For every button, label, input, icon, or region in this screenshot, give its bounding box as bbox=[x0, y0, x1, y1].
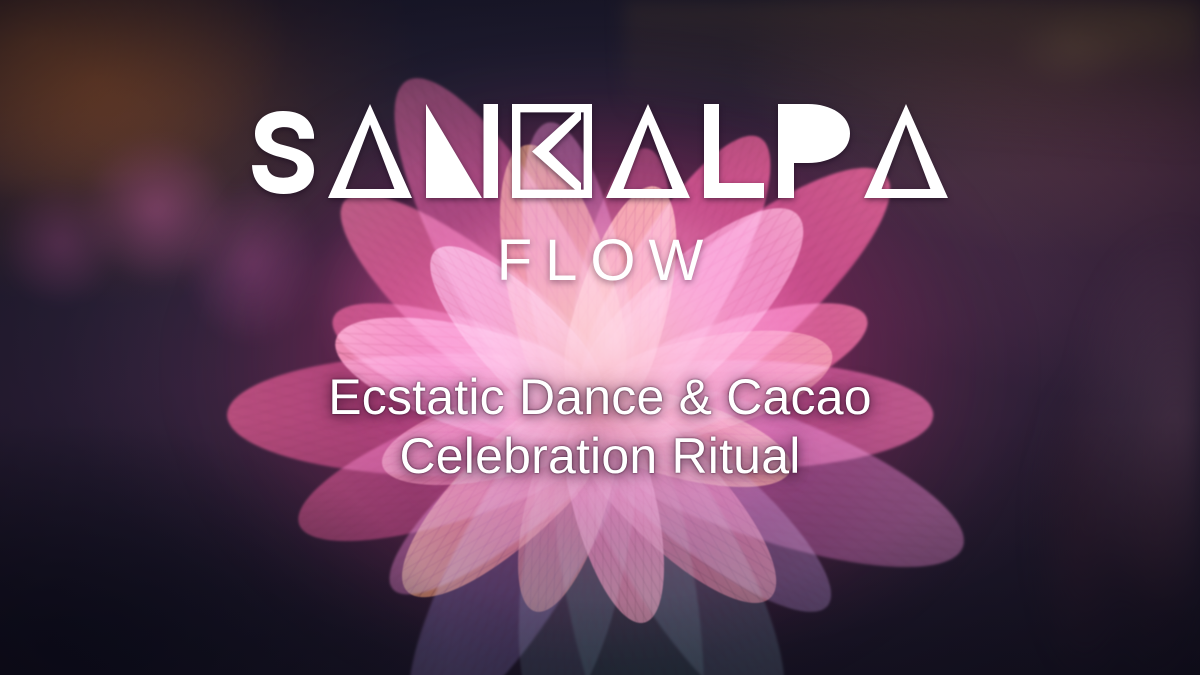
wordmark-letter-s bbox=[252, 104, 314, 198]
wordmark-letter-a-1 bbox=[328, 104, 412, 198]
wordmark-letter-n bbox=[426, 104, 498, 198]
event-poster: FLOW Ecstatic Dance & Cacao Celebration … bbox=[0, 0, 1200, 675]
headline-line-1: Ecstatic Dance & Cacao bbox=[0, 368, 1200, 427]
poster-content: FLOW Ecstatic Dance & Cacao Celebration … bbox=[0, 0, 1200, 675]
wordmark-letter-a-2 bbox=[606, 104, 690, 198]
headline-line-2: Celebration Ritual bbox=[0, 427, 1200, 486]
wordmark-letter-p bbox=[778, 104, 850, 198]
wordmark-letter-k bbox=[512, 104, 592, 198]
brand-wordmark bbox=[0, 98, 1200, 198]
wordmark-letter-a-3 bbox=[864, 104, 948, 198]
poster-headline: Ecstatic Dance & Cacao Celebration Ritua… bbox=[0, 368, 1200, 486]
wordmark-letter-l bbox=[704, 104, 764, 198]
brand-subbrand-flow: FLOW bbox=[0, 232, 1200, 290]
